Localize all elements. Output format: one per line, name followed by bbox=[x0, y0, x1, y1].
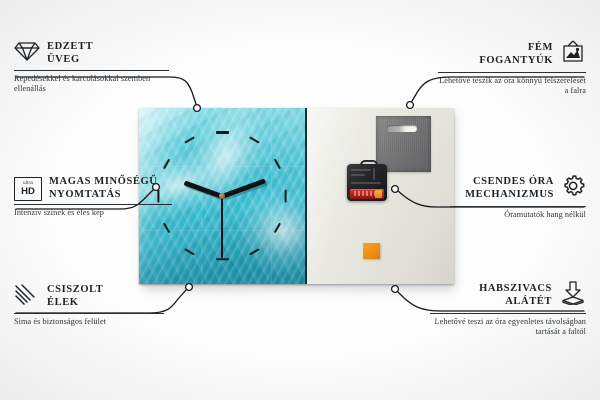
diamond-icon bbox=[14, 40, 40, 67]
aa-battery bbox=[350, 189, 384, 199]
infographic-canvas: EDZETTÜVEG Repedésekkel és karcolásokkal… bbox=[0, 0, 600, 400]
hour-marker bbox=[163, 159, 170, 169]
callout-head: HABSZIVACSALÁTÉT bbox=[430, 281, 586, 310]
product-image-group bbox=[139, 108, 454, 286]
callout-description: Sima és biztonságos felület bbox=[14, 317, 164, 327]
callout-title: HABSZIVACSALÁTÉT bbox=[479, 283, 552, 308]
second-hand bbox=[221, 196, 223, 258]
foam-pad-arrow-icon bbox=[559, 281, 586, 310]
mechanism-body bbox=[347, 164, 387, 201]
minute-hand bbox=[184, 180, 223, 198]
battery-positive-terminal bbox=[375, 190, 382, 198]
callout-polished-edges: CSISZOLTÉLEK Sima és biztonságos felület bbox=[14, 283, 164, 327]
hour-marker bbox=[185, 137, 195, 144]
battery-label bbox=[354, 191, 376, 196]
hd-label: HD bbox=[21, 187, 35, 197]
callout-description: Óramutatók hang nélkül bbox=[450, 210, 586, 220]
callout-head: CSENDES ÓRAMECHANIZMUS bbox=[450, 174, 586, 203]
hour-marker bbox=[216, 131, 229, 133]
clock-back-panel bbox=[307, 108, 454, 284]
callout-high-quality-print: ultra HD MAGAS MINŐSÉGŰNYOMTATÁS Intenzí… bbox=[14, 176, 172, 218]
callout-divider bbox=[450, 206, 586, 207]
ultra-hd-badge-icon: ultra HD bbox=[14, 177, 42, 201]
callout-divider bbox=[14, 70, 169, 71]
callout-head: ultra HD MAGAS MINŐSÉGŰNYOMTATÁS bbox=[14, 176, 172, 201]
hour-marker bbox=[249, 248, 259, 255]
callout-title: MAGAS MINŐSÉGŰNYOMTATÁS bbox=[49, 176, 157, 201]
callout-foam-spacer: HABSZIVACSALÁTÉT Lehetővé teszi az óra e… bbox=[430, 281, 586, 338]
callout-description: Intenzív színek és éles kép bbox=[14, 208, 172, 218]
callout-head: CSISZOLTÉLEK bbox=[14, 283, 164, 310]
hour-marker bbox=[163, 223, 170, 233]
hour-marker bbox=[216, 258, 229, 260]
callout-description: Lehetővé teszik az óra könnyű felszerelé… bbox=[438, 76, 586, 97]
clock-mechanism bbox=[347, 160, 387, 201]
callout-divider bbox=[438, 72, 586, 73]
hour-marker bbox=[185, 248, 195, 255]
clock-center-cap bbox=[219, 193, 225, 199]
hanger-slot bbox=[387, 125, 417, 132]
picture-frame-icon bbox=[560, 40, 586, 69]
callout-silent-mechanism: CSENDES ÓRAMECHANIZMUS Óramutatók hang n… bbox=[450, 174, 586, 220]
callout-tempered-glass: EDZETTÜVEG Repedésekkel és karcolásokkal… bbox=[14, 40, 169, 95]
callout-metal-handles: FÉMFOGANTYÚK Lehetővé teszik az óra könn… bbox=[438, 40, 586, 97]
gear-icon bbox=[561, 174, 586, 203]
callout-title: FÉMFOGANTYÚK bbox=[479, 42, 553, 67]
callout-title: EDZETTÜVEG bbox=[47, 41, 93, 66]
callout-description: Lehetővé teszi az óra egyenletes távolsá… bbox=[430, 317, 586, 338]
callout-head: FÉMFOGANTYÚK bbox=[438, 40, 586, 69]
foam-spacer-pad bbox=[363, 243, 380, 259]
callout-title: CSENDES ÓRAMECHANIZMUS bbox=[465, 176, 554, 201]
hour-marker bbox=[274, 159, 281, 169]
callout-head: EDZETTÜVEG bbox=[14, 40, 169, 67]
ultra-label: ultra bbox=[23, 181, 33, 186]
hour-marker bbox=[284, 189, 286, 202]
hour-marker bbox=[249, 137, 259, 144]
hour-marker bbox=[274, 223, 281, 233]
callout-divider bbox=[14, 204, 172, 205]
polished-edge-icon bbox=[14, 283, 40, 310]
callout-title: CSISZOLTÉLEK bbox=[47, 284, 103, 309]
callout-divider bbox=[430, 313, 586, 314]
callout-description: Repedésekkel és karcolásokkal szemben el… bbox=[14, 74, 169, 95]
callout-divider bbox=[14, 313, 164, 314]
